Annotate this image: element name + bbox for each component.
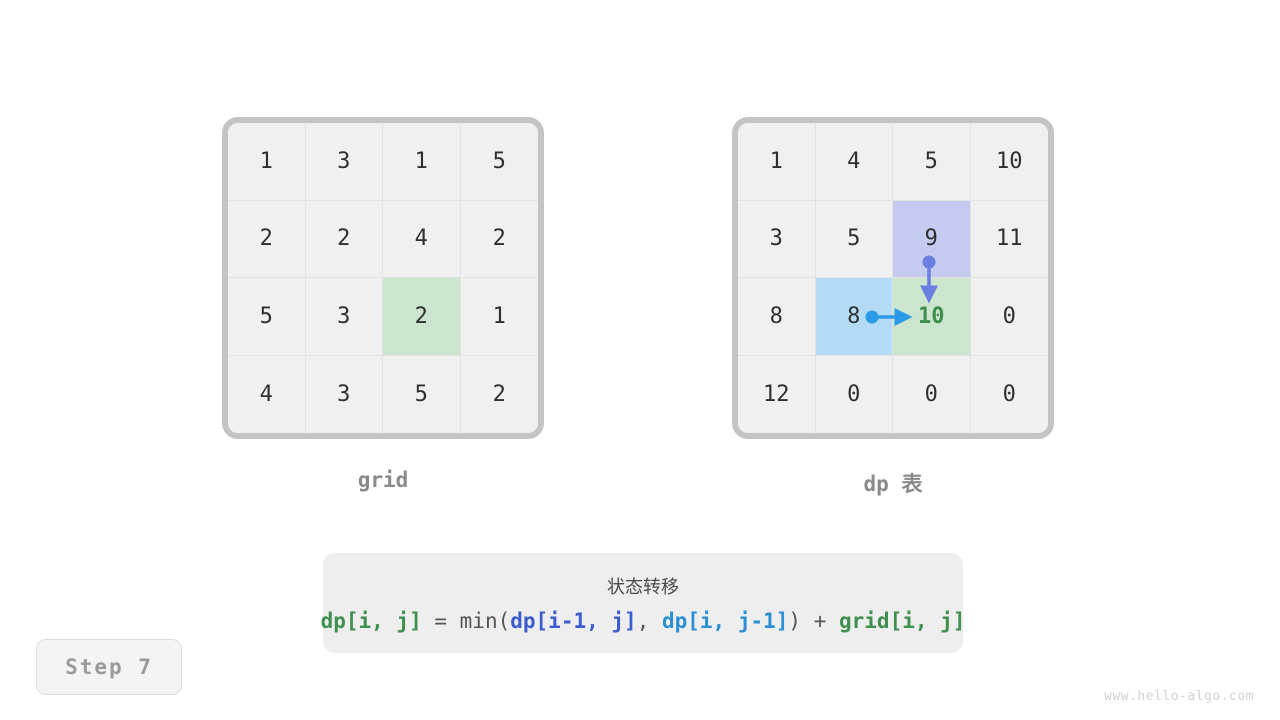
formula-expression: dp[i, j] = min(dp[i-1, j], dp[i, j-1]) +… xyxy=(321,609,966,633)
dp-cell-2-0: 8 xyxy=(738,278,816,356)
grid-matrix: 1 3 1 5 2 2 4 2 5 3 2 1 4 3 5 2 xyxy=(222,117,544,439)
state-transition-panel: 状态转移 dp[i, j] = min(dp[i-1, j], dp[i, j-… xyxy=(323,553,963,653)
dp-cell-3-0: 12 xyxy=(738,356,816,434)
dp-cell-0-0: 1 xyxy=(738,123,816,201)
dp-matrix: 1 4 5 10 3 5 9 11 8 8 10 0 12 0 0 0 xyxy=(732,117,1054,439)
formula-token-arg1: dp[i-1, j] xyxy=(510,609,636,633)
grid-cell-2-0: 5 xyxy=(228,278,306,356)
formula-token-close: ) + xyxy=(788,609,839,633)
formula-token-rhs: grid[i, j] xyxy=(839,609,965,633)
grid-cell-1-3: 2 xyxy=(461,201,539,279)
step-badge: Step 7 xyxy=(36,639,182,695)
dp-cell-1-3: 11 xyxy=(971,201,1049,279)
grid-cell-2-1: 3 xyxy=(306,278,384,356)
formula-title: 状态转移 xyxy=(607,573,679,599)
dp-cell-2-1: 8 xyxy=(816,278,894,356)
grid-cell-1-0: 2 xyxy=(228,201,306,279)
grid-cell-0-0: 1 xyxy=(228,123,306,201)
grid-caption: grid xyxy=(222,468,544,492)
dp-cell-3-3: 0 xyxy=(971,356,1049,434)
grid-cell-0-1: 3 xyxy=(306,123,384,201)
grid-cell-0-3: 5 xyxy=(461,123,539,201)
dp-cell-1-0: 3 xyxy=(738,201,816,279)
grid-cell-0-2: 1 xyxy=(383,123,461,201)
dp-cell-2-2: 10 xyxy=(893,278,971,356)
grid-cell-3-0: 4 xyxy=(228,356,306,434)
grid-cell-2-3: 1 xyxy=(461,278,539,356)
dp-cell-0-1: 4 xyxy=(816,123,894,201)
grid-cell-3-1: 3 xyxy=(306,356,384,434)
dp-cell-1-2: 9 xyxy=(893,201,971,279)
dp-cell-3-2: 0 xyxy=(893,356,971,434)
grid-cell-2-2: 2 xyxy=(383,278,461,356)
dp-cell-0-3: 10 xyxy=(971,123,1049,201)
dp-table-caption: dp 表 xyxy=(732,468,1054,498)
grid-cell-3-2: 5 xyxy=(383,356,461,434)
grid-cell-3-3: 2 xyxy=(461,356,539,434)
formula-token-eq: = min( xyxy=(422,609,511,633)
dp-cell-1-1: 5 xyxy=(816,201,894,279)
formula-token-lhs: dp[i, j] xyxy=(321,609,422,633)
dp-cell-0-2: 5 xyxy=(893,123,971,201)
grid-cell-1-2: 4 xyxy=(383,201,461,279)
watermark: www.hello-algo.com xyxy=(1104,689,1254,704)
dp-cell-2-3: 0 xyxy=(971,278,1049,356)
formula-token-comma: , xyxy=(637,609,662,633)
dp-cell-3-1: 0 xyxy=(816,356,894,434)
grid-cell-1-1: 2 xyxy=(306,201,384,279)
formula-token-arg2: dp[i, j-1] xyxy=(662,609,788,633)
